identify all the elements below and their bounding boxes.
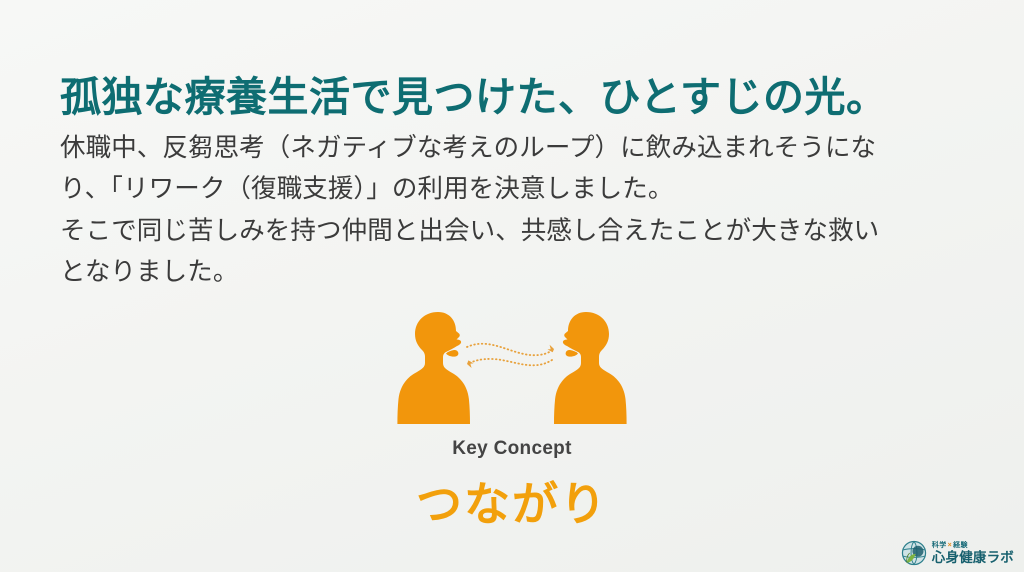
brand-name: 心身健康ラボ bbox=[932, 551, 1014, 565]
body-paragraph: 休職中、反芻思考（ネガティブな考えのループ）に飲み込まれそうにな り、「リワーク… bbox=[60, 128, 960, 293]
brand-tagline: 科学×経験 bbox=[932, 542, 1014, 549]
two-people-conversation-illustration bbox=[397, 303, 627, 425]
body-line-4: となりました。 bbox=[60, 252, 960, 293]
brand-tagline-left: 科学 bbox=[932, 542, 947, 549]
page-title: 孤独な療養生活で見つけた、ひとすじの光。 bbox=[60, 73, 970, 121]
body-line-1: 休職中、反芻思考（ネガティブな考えのループ）に飲み込まれそうにな bbox=[60, 128, 960, 169]
brand-tagline-right: 経験 bbox=[953, 542, 968, 549]
slide-canvas: 孤独な療養生活で見つけた、ひとすじの光。 休職中、反芻思考（ネガティブな考えのル… bbox=[0, 0, 1024, 572]
person-silhouette-right bbox=[554, 312, 627, 424]
brand-logo: 科学×経験 心身健康ラボ bbox=[896, 536, 1018, 570]
brand-text-block: 科学×経験 心身健康ラボ bbox=[932, 542, 1014, 565]
key-concept-value: つながり bbox=[0, 468, 1024, 534]
body-line-2: り、「リワーク（復職支援）」の利用を決意しました。 bbox=[60, 169, 960, 210]
globe-leaf-emblem-icon bbox=[900, 539, 928, 567]
key-concept-label: Key Concept bbox=[0, 438, 1024, 460]
dotted-exchange-arrows bbox=[467, 344, 554, 366]
body-line-3: そこで同じ苦しみを持つ仲間と出会い、共感し合えたことが大きな救い bbox=[60, 211, 960, 252]
person-silhouette-left bbox=[397, 312, 470, 424]
